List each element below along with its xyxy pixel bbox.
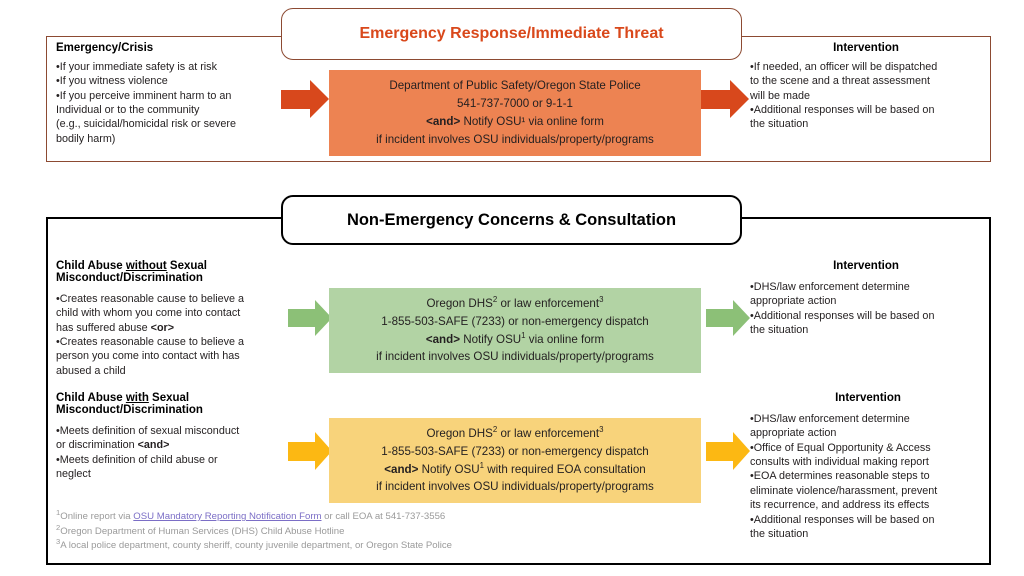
emergency-right-bullets: •If needed, an officer will be dispatche… xyxy=(750,60,982,132)
action-line-1: Oregon DHS2 or law enforcement3 xyxy=(427,295,604,313)
with-right-heading: Intervention xyxy=(750,392,986,404)
bullet-line: •DHS/law enforcement determine xyxy=(750,412,986,426)
bullet-line: •Additional responses will be based on xyxy=(750,513,986,527)
bullet-line: •Additional responses will be based on xyxy=(750,103,982,117)
bullet-line: the situation xyxy=(750,117,982,131)
and-keyword: <and> xyxy=(384,463,418,476)
action-line-4: if incident involves OSU individuals/pro… xyxy=(376,348,654,366)
arrow-shaft xyxy=(281,90,311,109)
and-keyword: <and> xyxy=(426,333,460,346)
with-action-box: Oregon DHS2 or law enforcement3 1-855-50… xyxy=(329,418,701,503)
bullet-line: appropriate action xyxy=(750,426,986,440)
or-keyword: <or> xyxy=(151,322,174,334)
emergency-left-column: Emergency/Crisis •If your immediate safe… xyxy=(56,42,306,146)
footnote-3: 3A local police department, county sheri… xyxy=(56,539,676,554)
footnote-1-post: or call EOA at 541-737-3556 xyxy=(322,511,446,522)
bullet-line: will be made xyxy=(750,89,982,103)
arrow-shaft xyxy=(701,90,731,109)
without-left-arrow-icon xyxy=(288,300,332,336)
bullet-line: neglect xyxy=(56,467,318,481)
bullet-line: •Office of Equal Opportunity & Access xyxy=(750,441,986,455)
with-left-arrow-icon xyxy=(288,432,332,470)
action-line-3: <and> Notify OSU1 via online form xyxy=(426,331,604,349)
footnotes: 1Online report via OSU Mandatory Reporti… xyxy=(56,510,676,554)
bullet-line: •Creates reasonable cause to believe a xyxy=(56,335,318,349)
emergency-right-arrow-icon xyxy=(701,80,749,118)
bullet-line: Individual or to the community xyxy=(56,103,306,117)
bullet-line: •If your immediate safety is at risk xyxy=(56,60,306,74)
with-right-bullets: •DHS/law enforcement determine appropria… xyxy=(750,412,986,541)
bullet-line: consults with individual making report xyxy=(750,455,986,469)
bullet-line: the situation xyxy=(750,527,986,541)
nonemergency-banner: Non-Emergency Concerns & Consultation xyxy=(281,195,742,245)
without-action-box: Oregon DHS2 or law enforcement3 1-855-50… xyxy=(329,288,701,373)
action-line-3-rest: Notify OSU¹ via online form xyxy=(460,115,604,128)
action-line-1: Oregon DHS2 or law enforcement3 xyxy=(427,425,604,443)
arrow-head xyxy=(310,80,329,118)
emergency-right-heading: Intervention xyxy=(750,42,982,54)
bullet-line: •Creates reasonable cause to believe a xyxy=(56,292,318,306)
without-right-bullets: •DHS/law enforcement determine appropria… xyxy=(750,280,982,337)
bullet-line: •DHS/law enforcement determine xyxy=(750,280,982,294)
bullet-line: the situation xyxy=(750,323,982,337)
without-row-heading: Child Abuse without Sexual Misconduct/Di… xyxy=(56,260,318,284)
bullet-line: its recurrence, and address its effects xyxy=(750,498,986,512)
emergency-action-box: Department of Public Safety/Oregon State… xyxy=(329,70,701,156)
emergency-banner: Emergency Response/Immediate Threat xyxy=(281,8,742,60)
action-line-2: 1-855-503-SAFE (7233) or non-emergency d… xyxy=(381,313,648,331)
without-left-column: Child Abuse without Sexual Misconduct/Di… xyxy=(56,260,318,378)
emergency-left-bullets: •If your immediate safety is at risk •If… xyxy=(56,60,306,146)
bullet-line: •Additional responses will be based on xyxy=(750,309,982,323)
arrow-head xyxy=(730,80,749,118)
with-right-column: Intervention •DHS/law enforcement determ… xyxy=(750,392,986,541)
arrow-shaft xyxy=(706,309,733,327)
without-left-bullets: •Creates reasonable cause to believe a c… xyxy=(56,292,318,378)
bullet-line: or discrimination <and> xyxy=(56,438,318,452)
bullet-line: has suffered abuse <or> xyxy=(56,321,318,335)
bullet-line: •If you witness violence xyxy=(56,74,306,88)
bullet-line: •Meets definition of child abuse or xyxy=(56,453,318,467)
without-right-column: Intervention •DHS/law enforcement determ… xyxy=(750,260,982,337)
bullet-line: (e.g., suicidal/homicidal risk or severe xyxy=(56,117,306,131)
emergency-right-column: Intervention •If needed, an officer will… xyxy=(750,42,982,132)
bullet-line: •Meets definition of sexual misconduct xyxy=(56,424,318,438)
action-line-4: if incident involves OSU individuals/pro… xyxy=(376,478,654,496)
arrow-head xyxy=(733,300,750,336)
emergency-left-heading: Emergency/Crisis xyxy=(56,42,306,54)
with-right-arrow-icon xyxy=(706,432,750,470)
action-line-2: 541-737-7000 or 9-1-1 xyxy=(457,95,573,113)
emergency-left-arrow-icon xyxy=(281,80,329,118)
arrow-shaft xyxy=(706,442,733,461)
bullet-line: •If needed, an officer will be dispatche… xyxy=(750,60,982,74)
with-row-heading: Child Abuse with Sexual Misconduct/Discr… xyxy=(56,392,318,416)
bullet-line: bodily harm) xyxy=(56,132,306,146)
osu-mandatory-reporting-form-link[interactable]: OSU Mandatory Reporting Notification For… xyxy=(133,511,321,522)
and-keyword: <and> xyxy=(138,439,170,451)
bullet-line: child with whom you come into contact xyxy=(56,306,318,320)
arrow-head xyxy=(733,432,750,470)
bullet-line: •If you perceive imminent harm to an xyxy=(56,89,306,103)
without-right-heading: Intervention xyxy=(750,260,982,272)
bullet-line: person you come into contact with has xyxy=(56,349,318,363)
action-line-1: Department of Public Safety/Oregon State… xyxy=(389,77,640,95)
heading-underline: with xyxy=(126,392,149,404)
heading-pre: Child Abuse xyxy=(56,392,126,404)
and-keyword: <and> xyxy=(426,115,460,128)
heading-pre: Child Abuse xyxy=(56,260,126,272)
without-right-arrow-icon xyxy=(706,300,750,336)
arrow-shaft xyxy=(288,442,315,461)
with-left-bullets: •Meets definition of sexual misconduct o… xyxy=(56,424,318,481)
bullet-line: eliminate violence/harassment, prevent xyxy=(750,484,986,498)
action-line-3: <and> Notify OSU¹ via online form xyxy=(426,113,604,131)
bullet-line: appropriate action xyxy=(750,294,982,308)
action-line-2: 1-855-503-SAFE (7233) or non-emergency d… xyxy=(381,443,648,461)
arrow-shaft xyxy=(288,309,315,327)
action-line-3: <and> Notify OSU1 with required EOA cons… xyxy=(384,461,646,479)
footnote-1-pre: Online report via xyxy=(60,511,133,522)
action-line-4: if incident involves OSU individuals/pro… xyxy=(376,131,654,149)
emergency-banner-title: Emergency Response/Immediate Threat xyxy=(359,25,663,43)
heading-underline: without xyxy=(126,260,167,272)
footnote-1: 1Online report via OSU Mandatory Reporti… xyxy=(56,510,676,525)
with-left-column: Child Abuse with Sexual Misconduct/Discr… xyxy=(56,392,318,481)
bullet-line: •EOA determines reasonable steps to xyxy=(750,469,986,483)
footnote-2: 2Oregon Department of Human Services (DH… xyxy=(56,525,676,540)
bullet-line: to the scene and a threat assessment xyxy=(750,74,982,88)
nonemergency-banner-title: Non-Emergency Concerns & Consultation xyxy=(347,211,676,230)
bullet-line: abused a child xyxy=(56,364,318,378)
